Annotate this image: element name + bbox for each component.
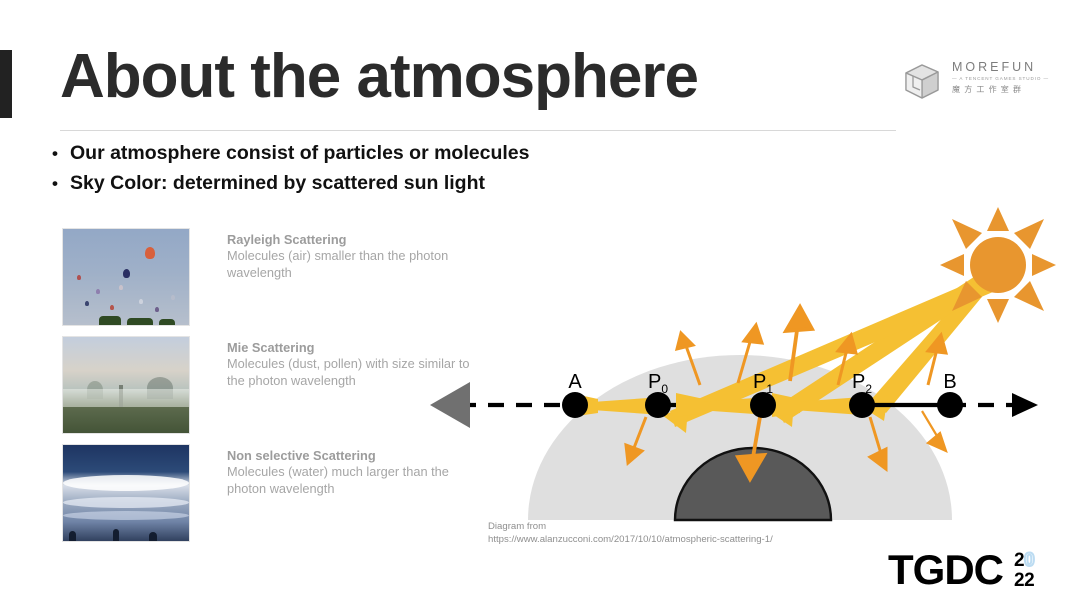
node-B — [937, 392, 963, 418]
tgdc-wordmark: TGDC — [888, 548, 1003, 592]
attribution-label: Diagram from — [488, 521, 908, 534]
morefun-logo-text: MOREFUN — A TENCENT GAMES STUDIO — 魔方工作室… — [952, 60, 1052, 96]
tgdc-logo: TGDC 20 22 — [888, 548, 1058, 594]
page-title: About the atmosphere — [60, 44, 698, 109]
attribution-url[interactable]: https://www.alanzucconi.com/2017/10/10/a… — [488, 534, 908, 547]
morefun-logo: MOREFUN — A TENCENT GAMES STUDIO — 魔方工作室… — [900, 58, 1050, 106]
bullet-marker: • — [52, 145, 70, 162]
viewer-arrow-icon — [430, 382, 470, 428]
title-divider — [60, 130, 896, 131]
misty-field-photo — [62, 336, 190, 434]
morefun-subtitle: — A TENCENT GAMES STUDIO — — [952, 74, 1052, 83]
clouds-dark-sky-photo — [62, 444, 190, 542]
node-A — [562, 392, 588, 418]
morefun-name: MOREFUN — [952, 60, 1052, 74]
bullet-text: Our atmosphere consist of particles or m… — [70, 142, 529, 165]
bullet-item: • Sky Color: determined by scattered sun… — [52, 172, 852, 195]
title-accent-bar — [0, 50, 12, 118]
morefun-chinese-name: 魔方工作室群 — [952, 83, 1052, 96]
tgdc-year: 20 22 — [1014, 551, 1054, 590]
tgdc-year-top: 20 — [1014, 551, 1054, 571]
bullet-marker: • — [52, 175, 70, 192]
tgdc-year-bottom: 22 — [1014, 571, 1054, 590]
bullet-list: • Our atmosphere consist of particles or… — [52, 142, 852, 202]
node-label-A: A — [568, 371, 581, 394]
slide-root: About the atmosphere MOREFUN — A TENCENT… — [0, 0, 1080, 608]
cube-icon — [900, 60, 944, 104]
bullet-item: • Our atmosphere consist of particles or… — [52, 142, 852, 165]
node-label-B: B — [943, 371, 956, 394]
node-label-P2: P2 — [852, 371, 872, 396]
node-label-P1: P1 — [753, 371, 773, 396]
diagram-attribution: Diagram from https://www.alanzucconi.com… — [488, 521, 908, 546]
sun-icon — [940, 207, 1056, 323]
bullet-text: Sky Color: determined by scattered sun l… — [70, 172, 485, 195]
node-label-P0: P0 — [648, 371, 668, 396]
hot-air-balloons-blue-sky-photo — [62, 228, 190, 326]
atmospheric-scattering-diagram: A P0 P1 P2 B — [400, 195, 1060, 555]
